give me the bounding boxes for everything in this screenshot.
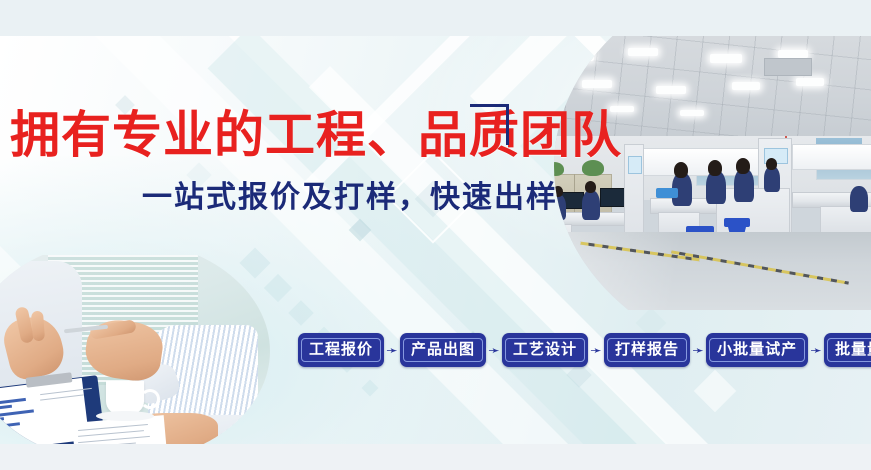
process-step-1[interactable]: 工程报价 (298, 333, 384, 367)
banner-headline: 拥有专业的工程、品质团队 (10, 110, 622, 160)
worker-hair (674, 162, 688, 178)
top-edge-band (0, 0, 871, 36)
flow-arrow-icon: ➛ (690, 343, 706, 357)
ceiling-lamp (796, 78, 824, 86)
worker-hair (708, 160, 722, 176)
panel-label (628, 156, 642, 174)
process-step-label: 打样报告 (607, 338, 687, 362)
ceiling-lamp (732, 82, 760, 90)
ceiling-lamp (778, 50, 808, 58)
flow-arrow-icon: ➛ (384, 343, 400, 357)
worker-hair (766, 158, 777, 170)
flow-arrow-icon: ➛ (588, 343, 604, 357)
process-step-label: 工程报价 (301, 338, 381, 362)
process-step-6[interactable]: 批量量产 (824, 333, 871, 367)
flow-arrow-icon: ➛ (808, 343, 824, 357)
ceiling-lamp (582, 80, 612, 88)
ceiling-lamp (710, 54, 742, 63)
banner-subheadline: 一站式报价及打样，快速出样 (142, 183, 558, 213)
worker (582, 190, 600, 220)
process-step-5[interactable]: 小批量试产 (706, 333, 808, 367)
ceiling-vent (764, 58, 812, 76)
ceiling-lamp (628, 48, 658, 56)
bottom-edge-band (0, 444, 871, 470)
promo-banner: 拥有专业的工程、品质团队 一站式报价及打样，快速出样 工程报价 ➛ 产品出图 ➛… (0, 0, 871, 470)
process-step-label: 工艺设计 (505, 338, 585, 362)
worker-hair (585, 181, 596, 193)
coffee-cup (106, 381, 144, 415)
worker-hair (736, 158, 750, 174)
finger (31, 311, 45, 342)
ceiling-lamp (680, 110, 704, 116)
process-step-label: 产品出图 (403, 338, 483, 362)
process-step-3[interactable]: 工艺设计 (502, 333, 588, 367)
ceiling-lamp (656, 86, 686, 94)
cup-handle (140, 389, 160, 409)
worker (850, 186, 868, 212)
process-step-4[interactable]: 打样报告 (604, 333, 690, 367)
stool (724, 218, 750, 227)
cup-saucer (96, 411, 154, 421)
parts-bin (656, 188, 678, 198)
process-step-label: 批量量产 (827, 338, 871, 362)
process-step-label: 小批量试产 (709, 338, 805, 362)
workstation-hood (792, 144, 871, 170)
corner-bracket-icon (470, 104, 509, 145)
process-flow: 工程报价 ➛ 产品出图 ➛ 工艺设计 ➛ 打样报告 ➛ 小批量试产 ➛ 批量量产 (298, 333, 871, 367)
process-step-2[interactable]: 产品出图 (400, 333, 486, 367)
flow-arrow-icon: ➛ (486, 343, 502, 357)
